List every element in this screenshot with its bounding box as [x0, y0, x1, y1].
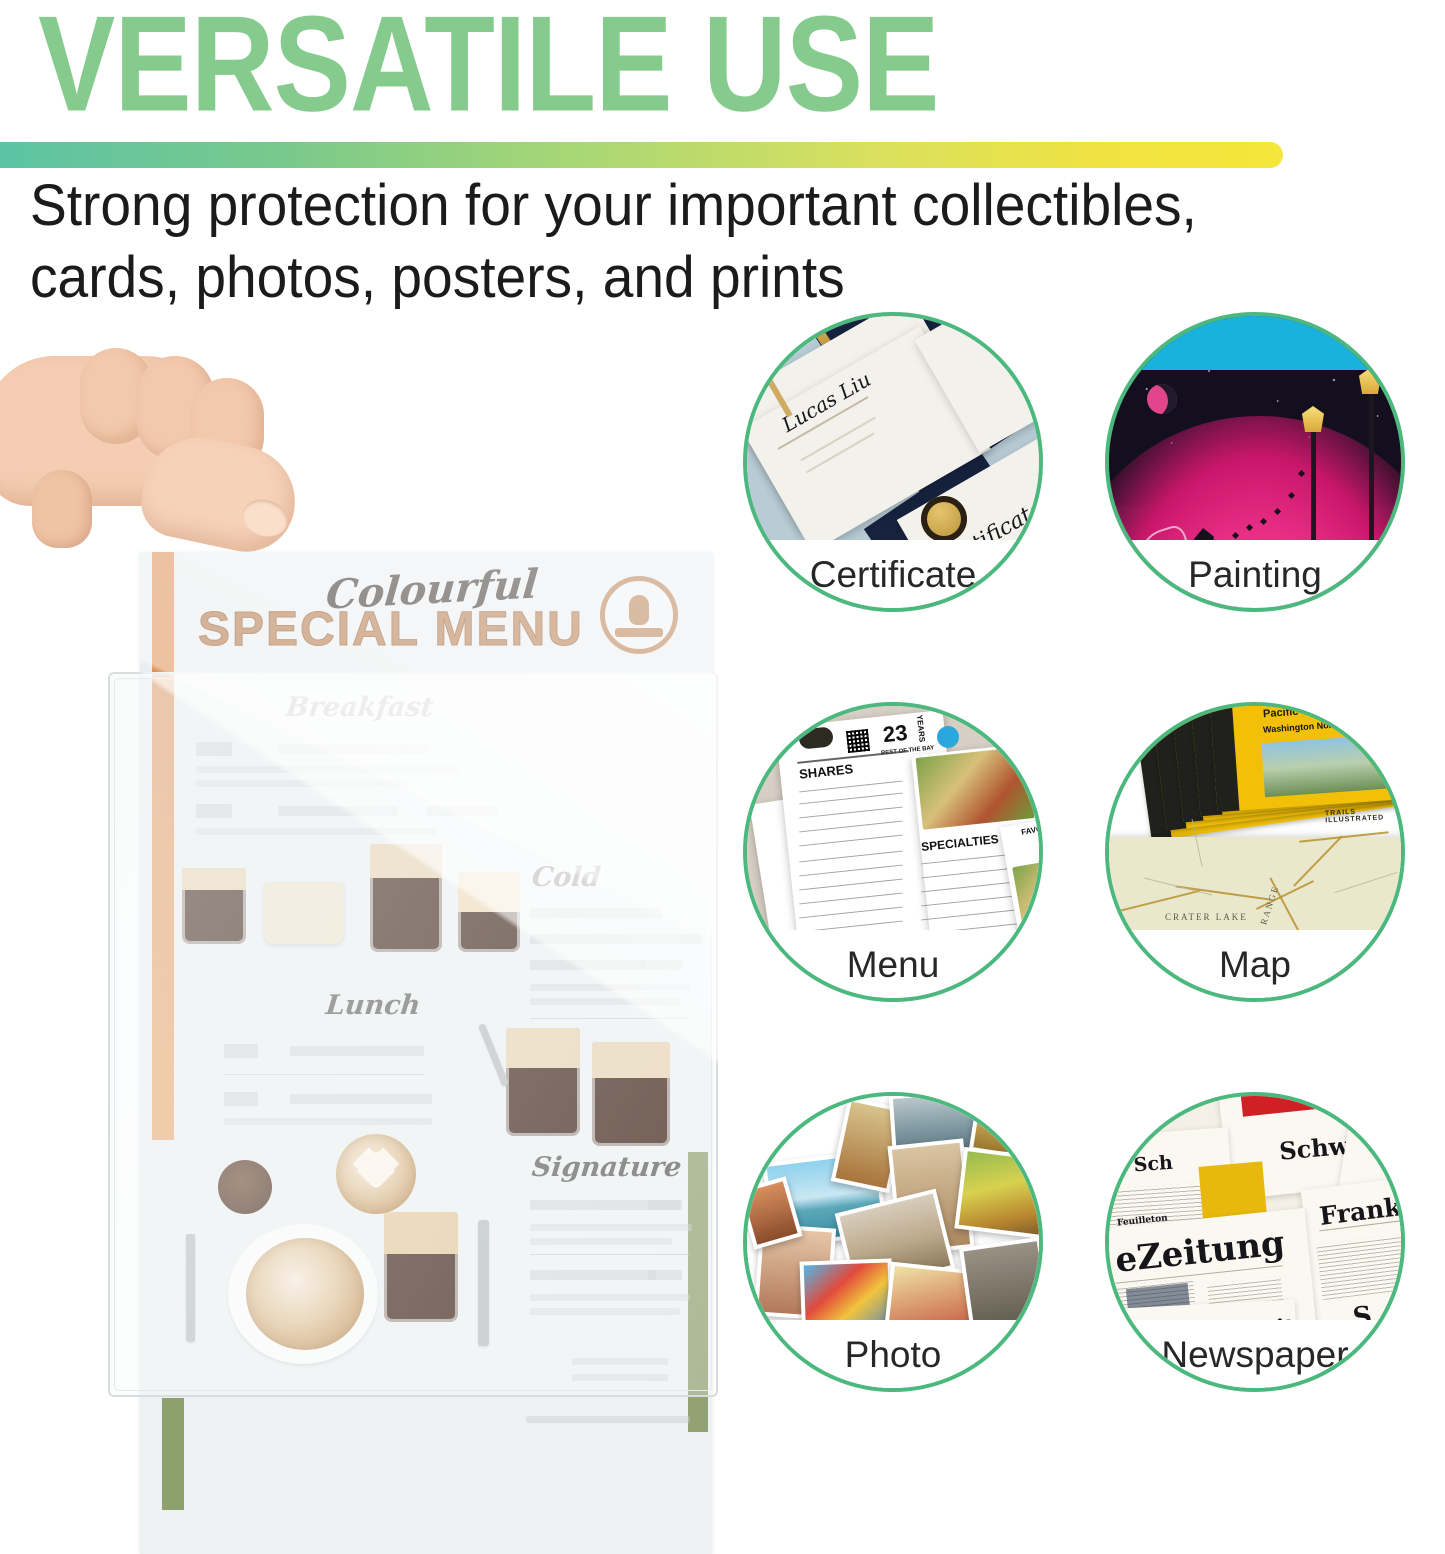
caption-bar: Photo [747, 1320, 1039, 1388]
use-case-painting[interactable]: Painting [1105, 312, 1405, 618]
circle-frame: Photo [743, 1092, 1043, 1392]
map-park-label: CRATER LAKE [1165, 912, 1248, 922]
menu-badge-icon [937, 726, 959, 748]
menu-title: SPECIAL MENU [198, 602, 584, 657]
qr-code-icon [846, 729, 870, 753]
use-case-photo[interactable]: Photo [743, 1092, 1043, 1398]
circle-frame: Schwarzwälder che er Sch Frankfurter Feu… [1105, 1092, 1405, 1392]
product-scene: Colourful SPECIAL MENU Breakfast Cold [0, 320, 740, 1426]
caption-bar: Painting [1109, 540, 1401, 608]
circle-frame: NATIONAL GEOGRAPHIC Pacific Crest Trail … [1105, 702, 1405, 1002]
finger [32, 470, 92, 548]
use-case-certificate[interactable]: Lucas Liu Certificate Certificate [743, 312, 1043, 618]
caption-bar: Menu [747, 930, 1039, 998]
menu-footer-address [526, 1416, 690, 1423]
use-case-menu[interactable]: 23 YEARS BEST OF THE BAY SHARES SPECIALT… [743, 702, 1043, 1008]
circle-frame: Painting [1105, 312, 1405, 612]
circle-frame: Lucas Liu Certificate Certificate [743, 312, 1043, 612]
use-case-label: Photo [845, 1336, 942, 1373]
page-subheadline: Strong protection for your important col… [30, 170, 1294, 314]
caption-bar: Newspaper [1109, 1320, 1401, 1388]
use-case-label: Painting [1188, 556, 1322, 593]
crescent-moon-icon [1147, 384, 1177, 414]
circle-frame: 23 YEARS BEST OF THE BAY SHARES SPECIALT… [743, 702, 1043, 1002]
photo-snapshot [954, 1147, 1043, 1239]
use-case-label: Map [1219, 946, 1291, 983]
menu-logo-icon [600, 576, 678, 654]
caption-bar: Map [1109, 930, 1401, 998]
hand-image [0, 350, 314, 610]
years-number: 23 [882, 723, 908, 745]
gradient-divider [0, 142, 1283, 168]
food-photo [916, 746, 1035, 829]
gold-seal-icon [921, 496, 967, 542]
use-case-label: Menu [847, 946, 940, 983]
use-case-label: Newspaper [1161, 1336, 1348, 1373]
clear-sleeve-inner [114, 678, 712, 1391]
use-case-map[interactable]: NATIONAL GEOGRAPHIC Pacific Crest Trail … [1105, 702, 1405, 1008]
page-headline: VERSATILE USE [38, 0, 939, 132]
menu-green-accent-left [162, 1398, 184, 1510]
use-case-label: Certificate [810, 556, 977, 593]
map-cover-photo [1261, 733, 1405, 797]
use-case-newspaper[interactable]: Schwarzwälder che er Sch Frankfurter Feu… [1105, 1092, 1405, 1398]
use-case-grid: Lucas Liu Certificate Certificate [737, 312, 1445, 1426]
caption-bar: Certificate [747, 540, 1039, 608]
